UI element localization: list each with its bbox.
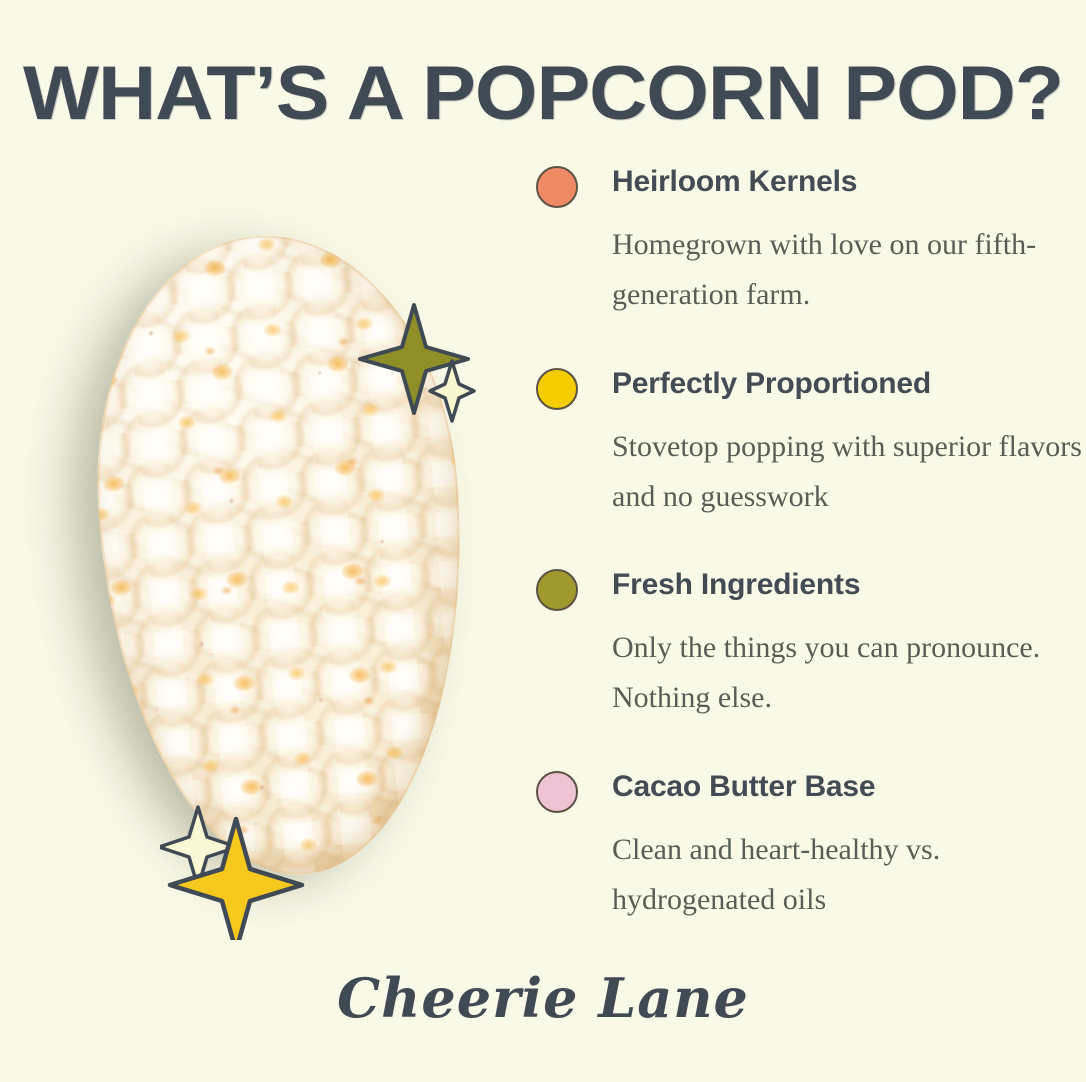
product-image-popcorn-pod	[60, 215, 530, 915]
brand-logo: Cheerie Lane	[0, 962, 1086, 1034]
feature-title: Perfectly Proportioned	[612, 362, 931, 406]
feature-title: Heirloom Kernels	[612, 160, 857, 204]
bullet-dot-icon	[536, 368, 578, 410]
popcorn-pod-infographic: WHAT’S A POPCORN POD? Heirloom Kernels H…	[0, 0, 1086, 1082]
sparkle-lower-icon	[160, 785, 310, 940]
feature-description: Clean and heart-healthy vs. hydrogenated…	[612, 825, 1082, 925]
feature-title: Fresh Ingredients	[612, 563, 860, 607]
feature-description: Homegrown with love on our fifth-generat…	[612, 220, 1082, 320]
page-title: WHAT’S A POPCORN POD?	[0, 52, 1086, 136]
feature-description: Stovetop popping with superior flavors a…	[612, 422, 1082, 522]
sparkle-upper-icon	[356, 299, 476, 429]
bullet-dot-icon	[536, 771, 578, 813]
bullet-dot-icon	[536, 569, 578, 611]
feature-description: Only the things you can pronounce. Nothi…	[612, 623, 1082, 723]
feature-title: Cacao Butter Base	[612, 765, 875, 809]
bullet-dot-icon	[536, 166, 578, 208]
